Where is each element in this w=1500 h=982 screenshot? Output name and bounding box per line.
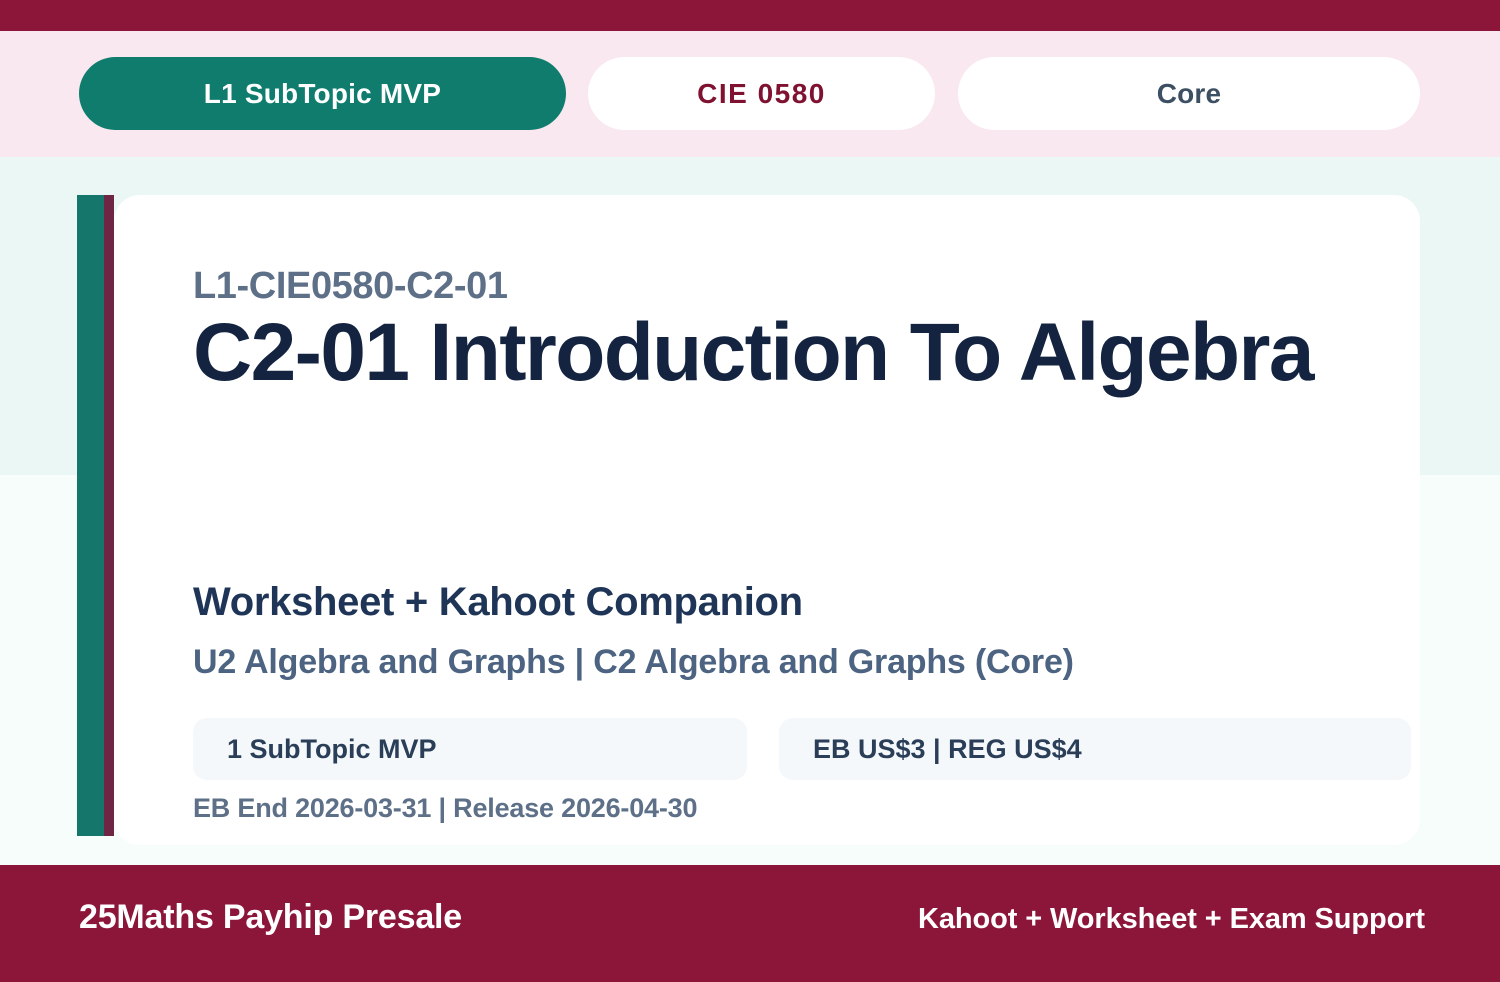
presale-poster: L1 SubTopic MVP CIE 0580 Core L1-CIE0580… <box>0 0 1500 982</box>
top-maroon-band <box>0 0 1500 31</box>
date-line: EB End 2026-03-31 | Release 2026-04-30 <box>193 793 697 824</box>
tag-pill-syllabus[interactable]: CIE 0580 <box>588 57 935 130</box>
tag-pill-row: L1 SubTopic MVP CIE 0580 Core <box>0 57 1500 130</box>
page-title: C2-01 Introduction To Algebra <box>193 312 1353 394</box>
chip-pricing: EB US$3 | REG US$4 <box>779 718 1411 780</box>
footer-tagline: Kahoot + Worksheet + Exam Support <box>918 903 1425 936</box>
product-subtitle: Worksheet + Kahoot Companion <box>193 580 803 625</box>
accent-bar-teal <box>77 195 104 836</box>
card-content: L1-CIE0580-C2-01 C2-01 Introduction To A… <box>156 195 1396 845</box>
footer-brand: 25Maths Payhip Presale <box>79 898 462 937</box>
card-surface: L1-CIE0580-C2-01 C2-01 Introduction To A… <box>114 195 1420 845</box>
accent-bar-maroon <box>104 195 114 836</box>
tag-pill-tier[interactable]: Core <box>958 57 1420 130</box>
chip-scope: 1 SubTopic MVP <box>193 718 747 780</box>
unit-topic-line: U2 Algebra and Graphs | C2 Algebra and G… <box>193 643 1074 682</box>
tag-pill-level[interactable]: L1 SubTopic MVP <box>79 57 566 130</box>
product-card: L1-CIE0580-C2-01 C2-01 Introduction To A… <box>77 195 1420 845</box>
product-code: L1-CIE0580-C2-01 <box>193 265 508 308</box>
